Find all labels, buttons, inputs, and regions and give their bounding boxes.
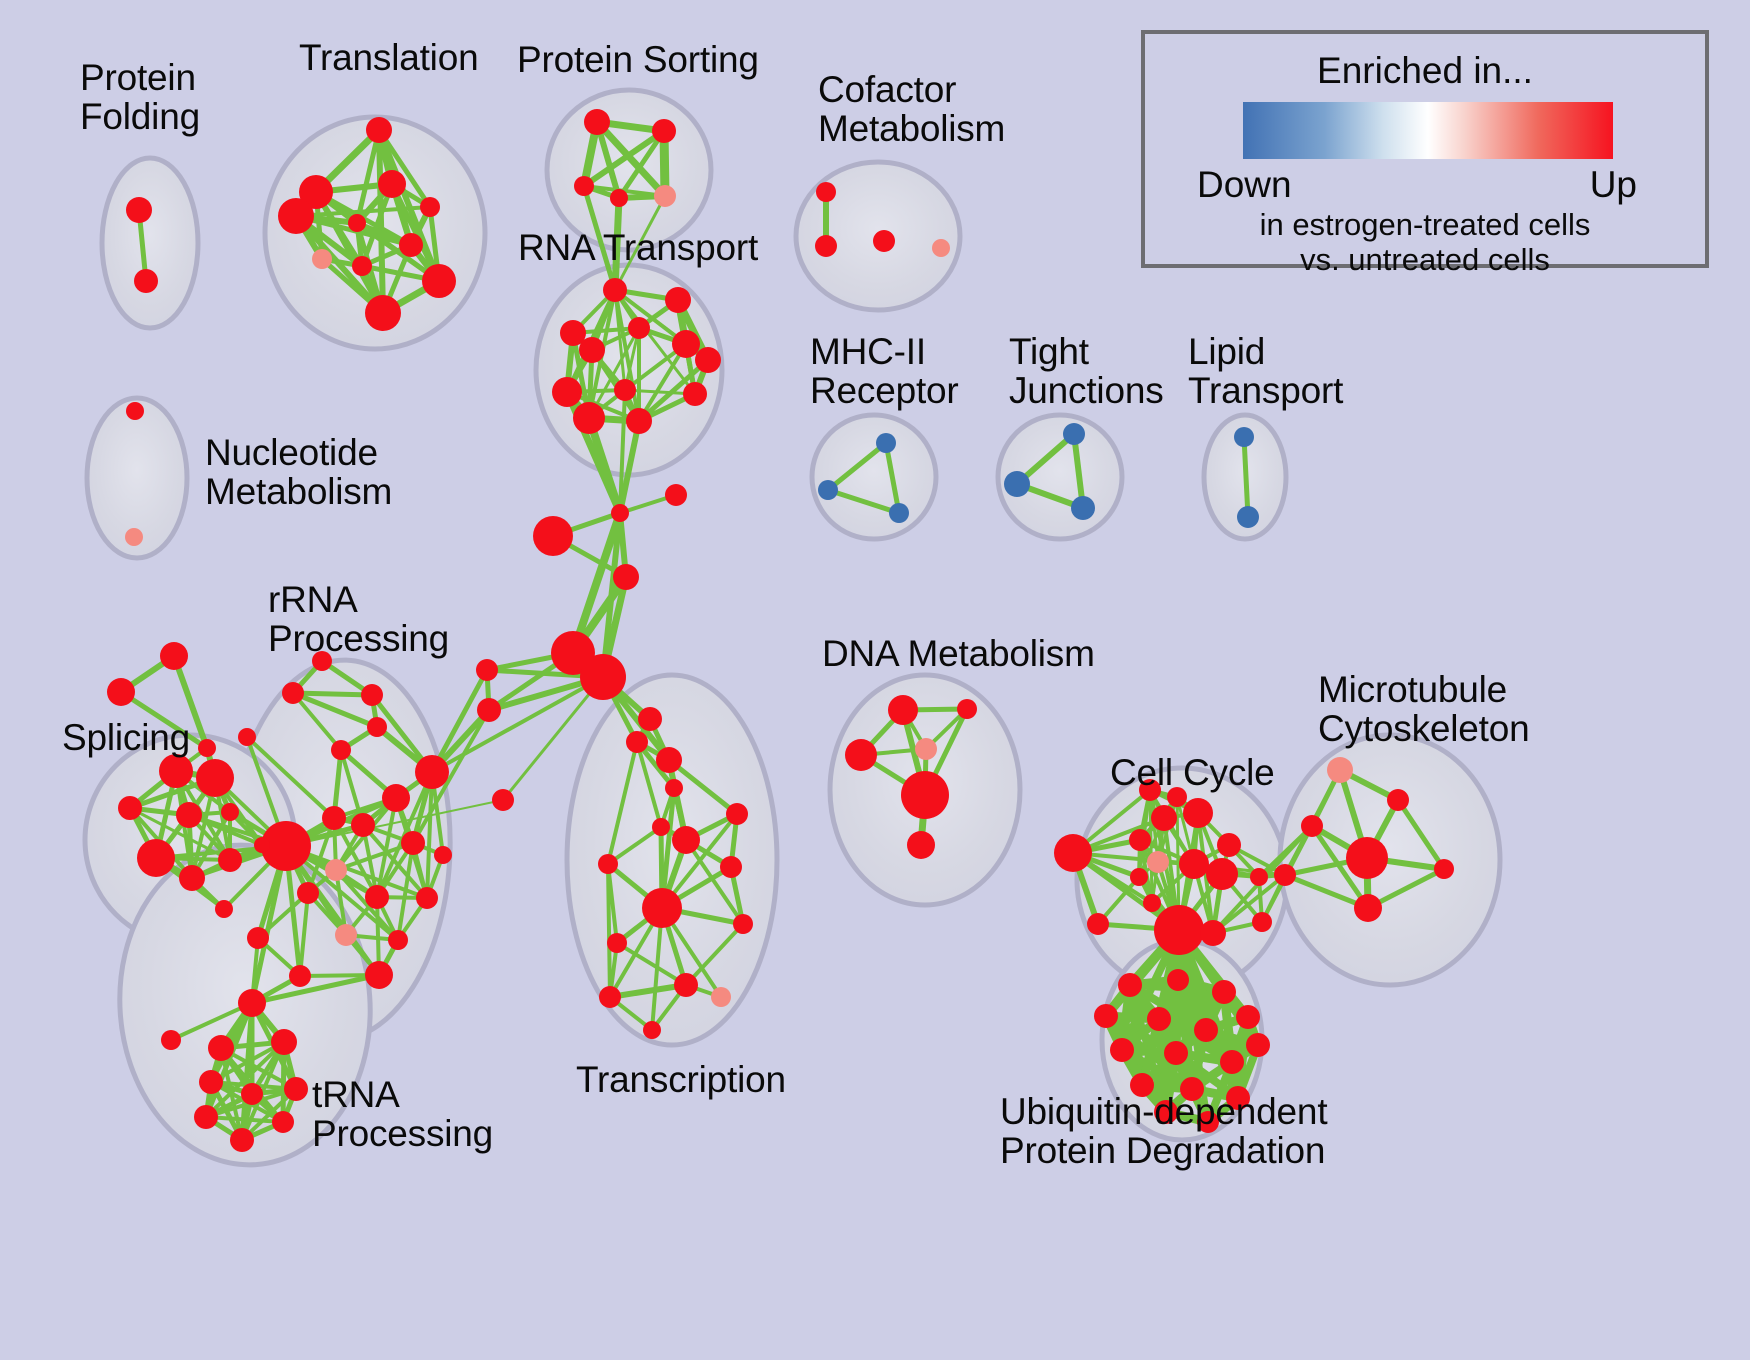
legend-subtitle: in estrogen-treated cells vs. untreated … [1145, 208, 1705, 277]
network-node[interactable] [533, 516, 573, 556]
network-node[interactable] [610, 189, 628, 207]
network-node[interactable] [628, 317, 650, 339]
network-node[interactable] [399, 233, 423, 257]
network-node[interactable] [238, 728, 256, 746]
network-node[interactable] [215, 900, 233, 918]
network-node[interactable] [1236, 1005, 1260, 1029]
cluster-label-nucleotide-metabolism: Nucleotide Metabolism [205, 433, 392, 511]
network-node[interactable] [107, 678, 135, 706]
legend-up-label: Up [1590, 164, 1637, 206]
network-node[interactable] [1220, 1050, 1244, 1074]
network-node[interactable] [272, 1111, 294, 1133]
network-node[interactable] [382, 784, 410, 812]
network-node[interactable] [626, 408, 652, 434]
network-node[interactable] [1054, 834, 1092, 872]
network-node[interactable] [695, 347, 721, 373]
network-node[interactable] [208, 1035, 234, 1061]
network-node[interactable] [416, 887, 438, 909]
cluster-ellipse-protein-folding [102, 158, 198, 328]
network-node[interactable] [1087, 913, 1109, 935]
network-node[interactable] [845, 739, 877, 771]
network-node[interactable] [1327, 757, 1353, 783]
network-node[interactable] [1387, 789, 1409, 811]
network-node[interactable] [1004, 471, 1030, 497]
cluster-label-rrna-processing: rRNA Processing [268, 580, 449, 658]
network-node[interactable] [1434, 859, 1454, 879]
network-node[interactable] [818, 480, 838, 500]
network-node[interactable] [365, 961, 393, 989]
network-node[interactable] [652, 119, 676, 143]
network-node[interactable] [176, 802, 202, 828]
network-node[interactable] [1301, 815, 1323, 837]
network-node[interactable] [420, 197, 440, 217]
cluster-label-translation: Translation [299, 38, 478, 77]
network-node[interactable] [889, 503, 909, 523]
network-edge [293, 693, 372, 695]
network-node[interactable] [674, 973, 698, 997]
network-node[interactable] [665, 484, 687, 506]
network-node[interactable] [126, 402, 144, 420]
network-node[interactable] [1063, 423, 1085, 445]
network-node[interactable] [672, 330, 700, 358]
cluster-label-mhc-ii-receptor: MHC-II Receptor [810, 332, 959, 410]
network-node[interactable] [278, 198, 314, 234]
network-node[interactable] [331, 740, 351, 760]
network-node[interactable] [434, 846, 452, 864]
network-node[interactable] [378, 170, 406, 198]
cluster-label-ubiquitin-protein-degradation: Ubiquitin-dependent Protein Degradation [1000, 1092, 1327, 1170]
network-node[interactable] [1206, 858, 1238, 890]
network-node[interactable] [711, 987, 731, 1007]
network-node[interactable] [241, 1083, 263, 1105]
network-node[interactable] [238, 989, 266, 1017]
network-node[interactable] [1237, 506, 1259, 528]
network-node[interactable] [271, 1029, 297, 1055]
network-node[interactable] [198, 739, 216, 757]
network-node[interactable] [1094, 1004, 1118, 1028]
network-node[interactable] [603, 278, 627, 302]
network-node[interactable] [1246, 1033, 1270, 1057]
network-node[interactable] [1167, 969, 1189, 991]
cluster-label-dna-metabolism: DNA Metabolism [822, 634, 1095, 673]
cluster-label-splicing: Splicing [62, 718, 190, 757]
network-node[interactable] [957, 699, 977, 719]
network-node[interactable] [573, 402, 605, 434]
cluster-ellipse-mhc-ii-receptor [812, 415, 936, 539]
network-node[interactable] [352, 256, 372, 276]
network-node[interactable] [218, 848, 242, 872]
network-node[interactable] [230, 1128, 254, 1152]
network-node[interactable] [1143, 894, 1161, 912]
network-node[interactable] [335, 924, 357, 946]
network-node[interactable] [1274, 864, 1296, 886]
network-node[interactable] [194, 1105, 218, 1129]
network-node[interactable] [643, 1021, 661, 1039]
network-node[interactable] [733, 914, 753, 934]
network-node[interactable] [901, 771, 949, 819]
cluster-label-protein-folding: Protein Folding [80, 58, 200, 136]
network-node[interactable] [642, 888, 682, 928]
cluster-label-transcription: Transcription [576, 1060, 786, 1099]
network-node[interactable] [221, 803, 239, 821]
network-node[interactable] [726, 803, 748, 825]
network-node[interactable] [247, 927, 269, 949]
network-node[interactable] [614, 379, 636, 401]
network-node[interactable] [126, 197, 152, 223]
cluster-label-tight-junctions: Tight Junctions [1009, 332, 1164, 410]
network-node[interactable] [654, 185, 676, 207]
network-node[interactable] [1147, 1007, 1171, 1031]
legend-box: Enriched in... Down Up in estrogen-treat… [1141, 30, 1709, 268]
legend-down-label: Down [1197, 164, 1292, 206]
network-node[interactable] [401, 831, 425, 855]
network-node[interactable] [289, 965, 311, 987]
network-node[interactable] [1252, 912, 1272, 932]
cluster-ellipse-protein-sorting [547, 90, 711, 250]
network-node[interactable] [1250, 868, 1268, 886]
network-node[interactable] [1110, 1038, 1134, 1062]
network-node[interactable] [118, 796, 142, 820]
network-node[interactable] [816, 182, 836, 202]
network-node[interactable] [159, 754, 193, 788]
network-node[interactable] [579, 337, 605, 363]
network-node[interactable] [907, 831, 935, 859]
network-node[interactable] [361, 684, 383, 706]
network-node[interactable] [611, 504, 629, 522]
network-node[interactable] [476, 659, 498, 681]
network-node[interactable] [1147, 851, 1169, 873]
network-node[interactable] [161, 1030, 181, 1050]
network-node[interactable] [1183, 798, 1213, 828]
network-node[interactable] [584, 109, 610, 135]
network-node[interactable] [1212, 980, 1236, 1004]
network-node[interactable] [134, 269, 158, 293]
cluster-label-microtubule-cytoskeleton: Microtubule Cytoskeleton [1318, 670, 1530, 748]
network-node[interactable] [599, 986, 621, 1008]
network-node[interactable] [1130, 868, 1148, 886]
network-node[interactable] [297, 882, 319, 904]
network-node[interactable] [199, 1070, 223, 1094]
network-figure: Protein FoldingTranslationProtein Sortin… [0, 0, 1750, 1360]
network-node[interactable] [312, 249, 332, 269]
network-node[interactable] [1234, 427, 1254, 447]
network-node[interactable] [552, 377, 582, 407]
network-node[interactable] [613, 564, 639, 590]
network-node[interactable] [388, 930, 408, 950]
legend-color-bar [1243, 102, 1613, 159]
network-node[interactable] [888, 695, 918, 725]
network-node[interactable] [1151, 805, 1177, 831]
network-node[interactable] [652, 818, 670, 836]
legend-title: Enriched in... [1145, 50, 1705, 92]
network-node[interactable] [638, 707, 662, 731]
network-node[interactable] [348, 214, 366, 232]
network-node[interactable] [284, 1077, 308, 1101]
network-node[interactable] [282, 682, 304, 704]
network-node[interactable] [915, 738, 937, 760]
network-node[interactable] [422, 264, 456, 298]
network-node[interactable] [254, 837, 270, 853]
cluster-label-trna-processing: tRNA Processing [312, 1075, 493, 1153]
network-node[interactable] [365, 885, 389, 909]
network-node[interactable] [598, 854, 618, 874]
network-node[interactable] [1129, 829, 1151, 851]
network-node[interactable] [876, 433, 896, 453]
cluster-label-lipid-transport: Lipid Transport [1188, 332, 1343, 410]
network-node[interactable] [367, 717, 387, 737]
network-node[interactable] [683, 382, 707, 406]
network-node[interactable] [1200, 920, 1226, 946]
cluster-label-cofactor-metabolism: Cofactor Metabolism [818, 70, 1005, 148]
network-node[interactable] [873, 230, 895, 252]
network-node[interactable] [665, 779, 683, 797]
network-node[interactable] [1346, 837, 1388, 879]
network-node[interactable] [160, 642, 188, 670]
network-node[interactable] [477, 698, 501, 722]
network-node[interactable] [415, 755, 449, 789]
network-node[interactable] [365, 295, 401, 331]
network-node[interactable] [1071, 496, 1095, 520]
network-node[interactable] [325, 859, 347, 881]
network-node[interactable] [492, 789, 514, 811]
network-node[interactable] [322, 806, 346, 830]
network-node[interactable] [125, 528, 143, 546]
network-node[interactable] [1354, 894, 1382, 922]
network-node[interactable] [607, 933, 627, 953]
network-node[interactable] [1118, 973, 1142, 997]
network-node[interactable] [196, 759, 234, 797]
network-node[interactable] [179, 865, 205, 891]
network-node[interactable] [1194, 1018, 1218, 1042]
network-node[interactable] [574, 176, 594, 196]
network-node[interactable] [932, 239, 950, 257]
network-node[interactable] [137, 839, 175, 877]
cluster-label-protein-sorting: Protein Sorting [517, 40, 759, 79]
network-node[interactable] [1179, 849, 1209, 879]
network-node[interactable] [665, 287, 691, 313]
network-node[interactable] [720, 856, 742, 878]
network-node[interactable] [1164, 1041, 1188, 1065]
network-node[interactable] [1154, 905, 1204, 955]
cluster-label-rna-transport: RNA Transport [518, 228, 758, 267]
network-node[interactable] [672, 826, 700, 854]
network-node[interactable] [366, 117, 392, 143]
network-node[interactable] [580, 654, 626, 700]
network-edge [608, 864, 610, 997]
network-node[interactable] [626, 731, 648, 753]
cluster-label-cell-cycle: Cell Cycle [1110, 753, 1275, 792]
network-node[interactable] [1217, 833, 1241, 857]
network-node[interactable] [351, 813, 375, 837]
network-node[interactable] [656, 747, 682, 773]
network-node[interactable] [815, 235, 837, 257]
